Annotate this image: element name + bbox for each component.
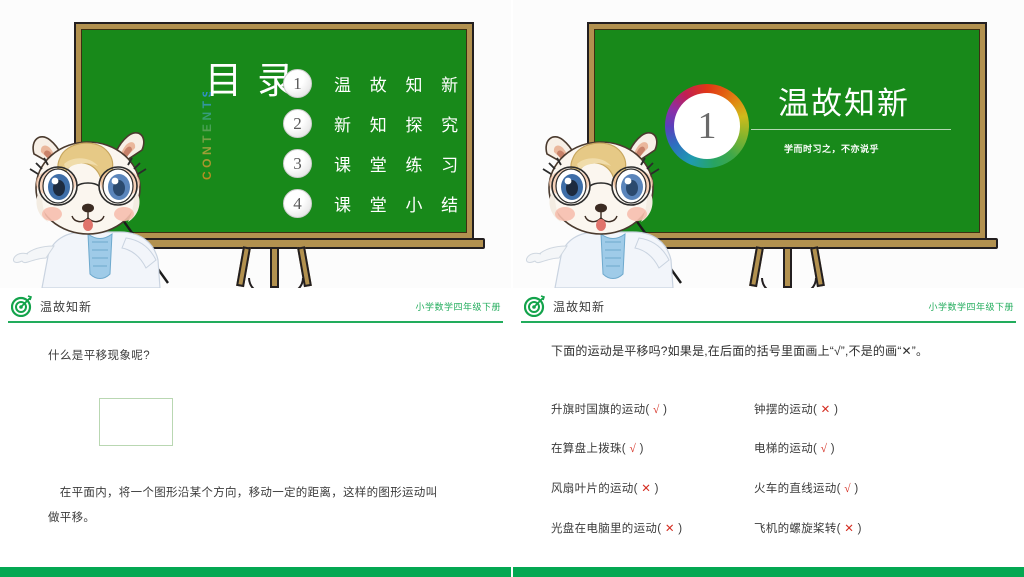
toc-title-cn: 目 录 (205, 63, 275, 101)
toc-item-label: 新 知 探 究 (334, 111, 465, 136)
toc-row[interactable]: 4 课 堂 小 结 (283, 189, 465, 218)
slide-header-rule (521, 321, 1016, 323)
toc-number-badge: 1 (283, 69, 312, 98)
quiz-item-mark: ✕ (844, 523, 854, 535)
concept-question: 什么是平移现象呢? (48, 347, 150, 363)
quiz-item-mark: √ (653, 404, 660, 416)
slide-header: 温故知新 小学数学四年级下册 (513, 290, 1024, 323)
toc-item-label: 课 堂 练 习 (334, 151, 465, 176)
quiz-item-tail: ) (663, 404, 667, 416)
quiz-item[interactable]: 飞机的螺旋桨转( ✕ ) (754, 520, 862, 536)
slide-header-title: 温故知新 (40, 298, 92, 315)
section-subtitle: 学而时习之，不亦说乎 (784, 142, 879, 155)
slide-translation-quiz[interactable]: 温故知新 小学数学四年级下册 下面的运动是平移吗?如果是,在后面的括号里面画上“… (513, 290, 1024, 577)
quiz-item-mark: ✕ (641, 483, 651, 495)
quiz-item[interactable]: 电梯的运动( √ ) (754, 440, 835, 456)
quiz-item-mark: √ (844, 483, 851, 495)
quiz-item-mark: ✕ (665, 523, 675, 535)
concept-paragraph-line-1: 在平面内，将一个图形沿某个方向，移动一定的距离，这样的图形运动叫 (48, 481, 437, 506)
cat-teacher-mascot (521, 128, 701, 288)
quiz-item-tail: ) (655, 483, 659, 495)
easel-base-arc (761, 278, 817, 288)
quiz-instruction: 下面的运动是平移吗?如果是,在后面的括号里面画上“√”,不是的画“✕”。 (551, 342, 928, 359)
quiz-item[interactable]: 风扇叶片的运动( ✕ ) (551, 480, 659, 496)
slide-grid-page: 目 录 CONTENTS 1 温 故 知 新 2 新 知 探 究 3 课 堂 练… (0, 0, 1024, 577)
section-divider (751, 129, 951, 130)
quiz-item-tail: ) (858, 523, 862, 535)
quiz-item[interactable]: 光盘在电脑里的运动( ✕ ) (551, 520, 682, 536)
quiz-item-mark: √ (821, 443, 828, 455)
quiz-item-text: 风扇叶片的运动( (551, 483, 638, 495)
toc-row[interactable]: 1 温 故 知 新 (283, 69, 465, 98)
toc-number-badge: 4 (283, 189, 312, 218)
quiz-item-tail: ) (640, 443, 644, 455)
slide-header: 温故知新 小学数学四年级下册 (0, 290, 511, 323)
target-bullseye-icon (11, 295, 33, 317)
toc-number-badge: 2 (283, 109, 312, 138)
target-bullseye-icon (524, 295, 546, 317)
quiz-item-tail: ) (834, 404, 838, 416)
quiz-item-text: 飞机的螺旋桨转( (754, 523, 841, 535)
quiz-item[interactable]: 火车的直线运动( √ ) (754, 480, 859, 496)
toc-item-label: 课 堂 小 结 (334, 191, 465, 216)
quiz-item-text: 升旗时国旗的运动( (551, 404, 650, 416)
slide-translation-concept[interactable]: 温故知新 小学数学四年级下册 什么是平移现象呢? 在平面内，将一个图形沿某个方向… (0, 290, 511, 577)
translation-demo-rectangle (99, 398, 173, 446)
quiz-item-text: 钟摆的运动( (754, 404, 817, 416)
quiz-item-tail: ) (831, 443, 835, 455)
section-title: 温故知新 (778, 78, 910, 123)
toc-number-badge: 3 (283, 149, 312, 178)
quiz-item-tail: ) (854, 483, 858, 495)
quiz-item-text: 在算盘上拨珠( (551, 443, 626, 455)
quiz-item-text: 电梯的运动( (754, 443, 817, 455)
quiz-item[interactable]: 升旗时国旗的运动( √ ) (551, 401, 667, 417)
concept-paragraph-line-2: 做平移。 (48, 506, 95, 531)
slide-section-title[interactable]: 1 温故知新 学而时习之，不亦说乎 (513, 0, 1024, 288)
toc-item-label: 温 故 知 新 (334, 71, 465, 96)
quiz-item[interactable]: 在算盘上拨珠( √ ) (551, 440, 644, 456)
slide-table-of-contents[interactable]: 目 录 CONTENTS 1 温 故 知 新 2 新 知 探 究 3 课 堂 练… (0, 0, 511, 288)
slide-header-title: 温故知新 (553, 298, 605, 315)
slide-header-subject: 小学数学四年级下册 (415, 300, 501, 313)
quiz-item-tail: ) (678, 523, 682, 535)
cat-teacher-mascot (8, 128, 188, 288)
quiz-item[interactable]: 钟摆的运动( ✕ ) (754, 401, 838, 417)
quiz-item-mark: ✕ (821, 404, 831, 416)
toc-row[interactable]: 2 新 知 探 究 (283, 109, 465, 138)
slide-footer-bar (513, 567, 1024, 577)
quiz-item-text: 火车的直线运动( (754, 483, 841, 495)
toc-title-en: CONTENTS (200, 92, 214, 180)
toc-row[interactable]: 3 课 堂 练 习 (283, 149, 465, 178)
slide-header-rule (8, 321, 503, 323)
slide-footer-bar (0, 567, 511, 577)
slide-header-subject: 小学数学四年级下册 (928, 300, 1014, 313)
quiz-item-mark: √ (629, 443, 636, 455)
quiz-item-text: 光盘在电脑里的运动( (551, 523, 661, 535)
easel-base-arc (248, 278, 304, 288)
